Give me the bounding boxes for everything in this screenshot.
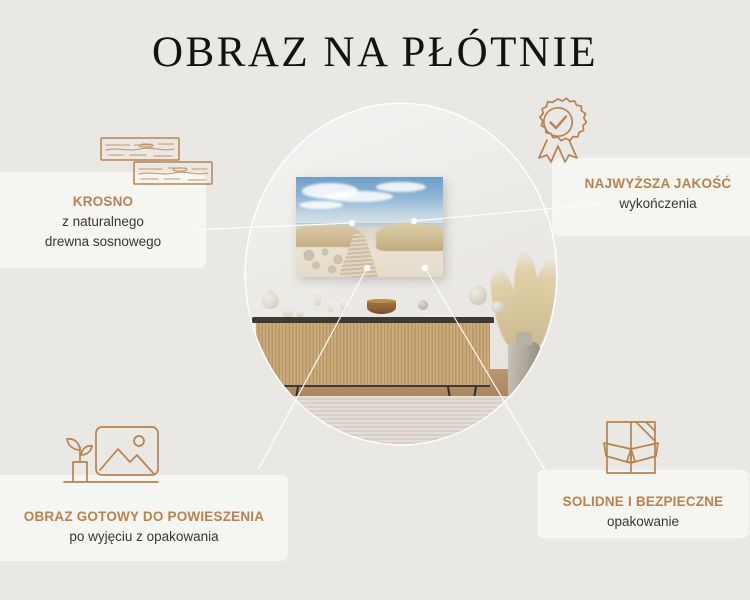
wooden-bowl [367,301,396,314]
artwork-dune-right [376,223,444,251]
cardboard-box-icon [596,416,666,482]
feature-subtext-line2: drewna sosnowego [0,232,206,252]
candle [341,298,347,311]
infographic-page: OBRAZ NA PŁÓTNIE [0,0,750,600]
stone-sphere [418,300,428,310]
feature-card-jakosc[interactable]: NAJWYŻSZA JAKOŚĆ wykończenia [552,158,750,236]
feature-heading: SOLIDNE I BEZPIECZNE [537,492,749,512]
ceramic-vase [491,301,504,313]
candle [314,289,321,306]
artwork-footprints [299,247,349,275]
room-scene [246,104,556,444]
feature-subtext-line1: opakowanie [537,512,749,532]
sideboard-fluted-front [256,323,491,387]
quality-badge-icon [527,96,589,166]
woven-basket [252,403,292,444]
feature-card-krosno[interactable]: KROSNO z naturalnego drewna sosnowego [0,172,206,268]
framed-picture-plant-icon [58,424,170,490]
feature-subtext-line1: wykończenia [552,194,750,214]
page-title: OBRAZ NA PŁÓTNIE [0,28,750,77]
ceramic-vase [469,286,487,305]
artwork-cloud [376,182,426,192]
feature-subtext-line1: z naturalnego [0,212,206,232]
feature-heading: KROSNO [0,192,206,212]
wooden-sideboard [252,317,494,399]
wood-planks-icon [100,136,216,186]
candle [328,301,334,312]
feature-heading: NAJWYŻSZA JAKOŚĆ [552,174,750,194]
floor-rug [246,396,556,444]
feature-subtext-line1: po wyjęciu z opakowania [0,527,288,547]
ceramic-vase [262,293,279,309]
canvas-artwork [296,177,443,277]
feature-heading: OBRAZ GOTOWY DO POWIESZENIA [0,507,288,527]
product-scene-circle [246,104,556,444]
